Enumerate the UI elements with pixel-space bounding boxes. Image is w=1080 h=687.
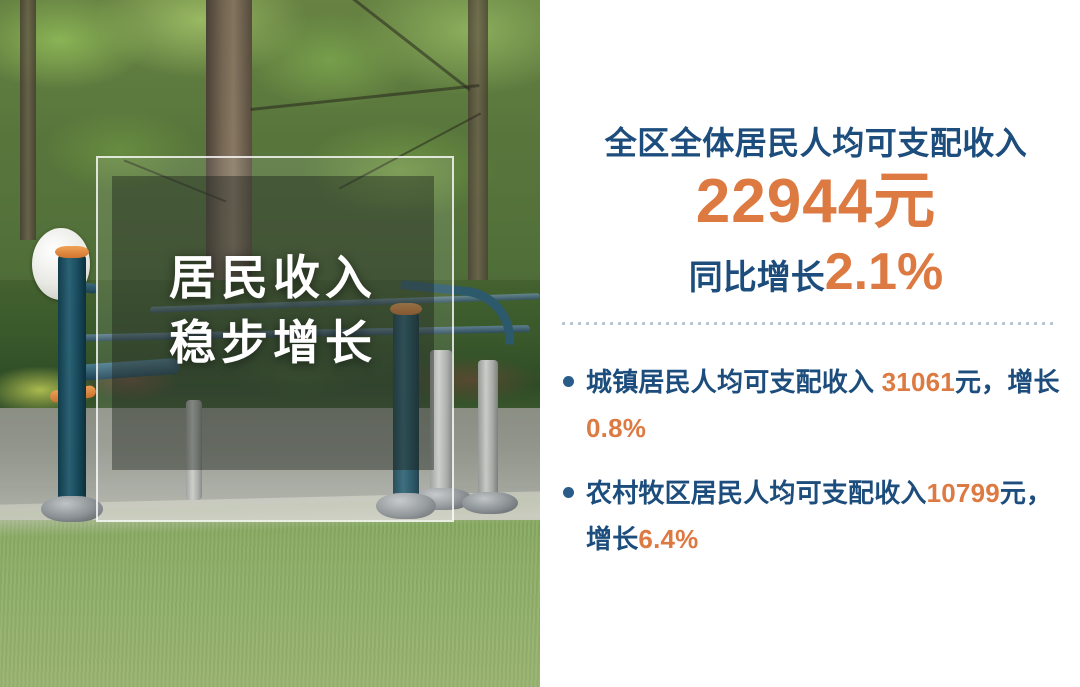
fitness-post-left bbox=[58, 255, 86, 505]
grey-post-right bbox=[478, 360, 498, 500]
stat-growth-line: 同比增长2.1% bbox=[580, 244, 1052, 301]
bullet-prefix: 农村牧区居民人均可支配收入 bbox=[586, 478, 927, 508]
bullet-growth-label: 增长 bbox=[586, 524, 638, 554]
bullet-unit: 元， bbox=[955, 367, 1007, 397]
bullet-dot-icon bbox=[563, 376, 574, 387]
bullet-list: 城镇居民人均可支配收入 31061元，增长0.8% 农村牧区居民人均可支配收入1… bbox=[558, 360, 1070, 582]
bullet-growth-value: 6.4% bbox=[638, 524, 698, 554]
dotted-divider bbox=[562, 322, 1058, 325]
infographic-slide: 居民收入 稳步增长 全区全体居民人均可支配收入 22944元 同比增长2.1% … bbox=[0, 0, 1080, 687]
tree-trunk-thin-left bbox=[20, 0, 36, 240]
post-cap bbox=[55, 246, 89, 258]
turf-layer bbox=[0, 520, 540, 687]
growth-value: 2.1% bbox=[825, 243, 944, 301]
list-item: 农村牧区居民人均可支配收入10799元，增长6.4% bbox=[558, 471, 1070, 562]
bullet-growth-label: 增长 bbox=[1007, 367, 1059, 397]
bullet-prefix: 城镇居民人均可支配收入 bbox=[586, 367, 882, 397]
bullet-amount: 10799 bbox=[927, 478, 1000, 508]
bullet-unit: 元， bbox=[1000, 478, 1052, 508]
growth-label: 同比增长 bbox=[689, 259, 825, 297]
tree-trunk-right bbox=[468, 0, 488, 300]
bullet-amount: 31061 bbox=[882, 367, 955, 397]
bullet-growth-value: 0.8% bbox=[586, 413, 646, 443]
park-photo: 居民收入 稳步增长 bbox=[0, 0, 540, 687]
grey-post-base bbox=[462, 492, 518, 514]
list-item: 城镇居民人均可支配收入 31061元，增长0.8% bbox=[558, 360, 1070, 451]
stats-panel: 全区全体居民人均可支配收入 22944元 同比增长2.1% 城镇居民人均可支配收… bbox=[540, 0, 1080, 687]
photo-overlay-title: 居民收入 稳步增长 bbox=[96, 246, 450, 376]
post-base bbox=[41, 496, 103, 522]
stat-title: 全区全体居民人均可支配收入 bbox=[580, 118, 1052, 164]
bullet-dot-icon bbox=[563, 487, 574, 498]
stat-headline-value: 22944元 bbox=[580, 168, 1052, 236]
